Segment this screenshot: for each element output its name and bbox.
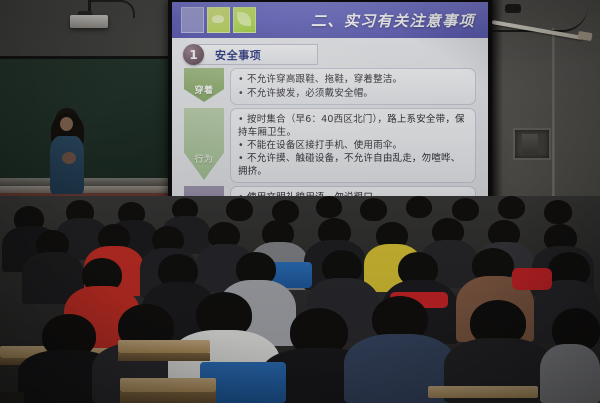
audience-head xyxy=(406,196,432,218)
ceiling-fixture xyxy=(505,4,521,13)
slide-row-clothing: 穿着 不允许穿高跟鞋、拖鞋，穿着整洁。 不允许披发，必须戴安全帽。 xyxy=(184,68,476,105)
audience-head xyxy=(360,198,387,221)
chevron-behavior-label: 行为 xyxy=(194,152,213,165)
chevron-behavior: 行为 xyxy=(184,108,224,180)
slide-title-bar: 二、实习有关注意事项 xyxy=(172,2,488,38)
section-heading-box: 安全事项 xyxy=(198,44,318,65)
logo-tile-plain-icon xyxy=(181,7,204,33)
presenter xyxy=(44,108,90,194)
desk-edge xyxy=(118,353,210,361)
chevron-clothing: 穿着 xyxy=(184,68,224,102)
audience-body xyxy=(540,344,600,403)
logo-tile-leaf-1-icon xyxy=(207,7,230,33)
slide-logo-tiles xyxy=(181,7,256,33)
slide-section-header: 1 安全事项 xyxy=(183,44,318,65)
bullet-item: 不允许摸、触碰设备，不允许自由乱走，勿喧哗、拥挤。 xyxy=(238,152,467,178)
audience-head xyxy=(498,196,525,219)
bullet-item: 不允许穿高跟鞋、拖鞋，穿着整洁。 xyxy=(238,73,467,87)
seated-audience xyxy=(0,196,600,403)
bullet-item: 不允许披发，必须戴安全帽。 xyxy=(238,87,467,101)
red-vest xyxy=(512,268,552,290)
section-heading-text: 安全事项 xyxy=(215,47,261,63)
chevron-clothing-label: 穿着 xyxy=(194,83,213,96)
desk-edge xyxy=(120,392,216,403)
desk-surface xyxy=(428,386,538,398)
audience-head xyxy=(316,196,342,218)
projected-slide: 二、实习有关注意事项 1 安全事项 穿着 不允许穿高跟鞋、拖鞋，穿着整洁。 不允… xyxy=(172,2,488,229)
audience-head xyxy=(544,200,572,224)
section-number-badge: 1 xyxy=(183,44,204,65)
ceiling-projector xyxy=(70,15,108,28)
bullet-item: 不能在设备区接打手机、使用雨伞。 xyxy=(238,139,467,152)
slide-title: 二、实习有关注意事项 xyxy=(311,10,475,31)
logo-tile-leaf-2-icon xyxy=(233,7,256,33)
desk-surface xyxy=(118,340,210,353)
audience-head xyxy=(226,198,253,221)
audience-head xyxy=(452,198,479,221)
lecture-hall-photo: 二、实习有关注意事项 1 安全事项 穿着 不允许穿高跟鞋、拖鞋，穿着整洁。 不允… xyxy=(0,0,600,403)
bullet-box-clothing: 不允许穿高跟鞋、拖鞋，穿着整洁。 不允许披发，必须戴安全帽。 xyxy=(230,68,476,105)
desk-surface xyxy=(120,378,216,392)
floor xyxy=(0,392,24,403)
bullet-item: 按时集合（早6：40西区北门），路上系安全带，保持车厢卫生。 xyxy=(238,113,467,139)
slide-row-behavior: 行为 按时集合（早6：40西区北门），路上系安全带，保持车厢卫生。 不能在设备区… xyxy=(184,108,476,183)
bullet-box-behavior: 按时集合（早6：40西区北门），路上系安全带，保持车厢卫生。 不能在设备区接打手… xyxy=(230,108,476,183)
wall-access-panel xyxy=(513,128,551,160)
